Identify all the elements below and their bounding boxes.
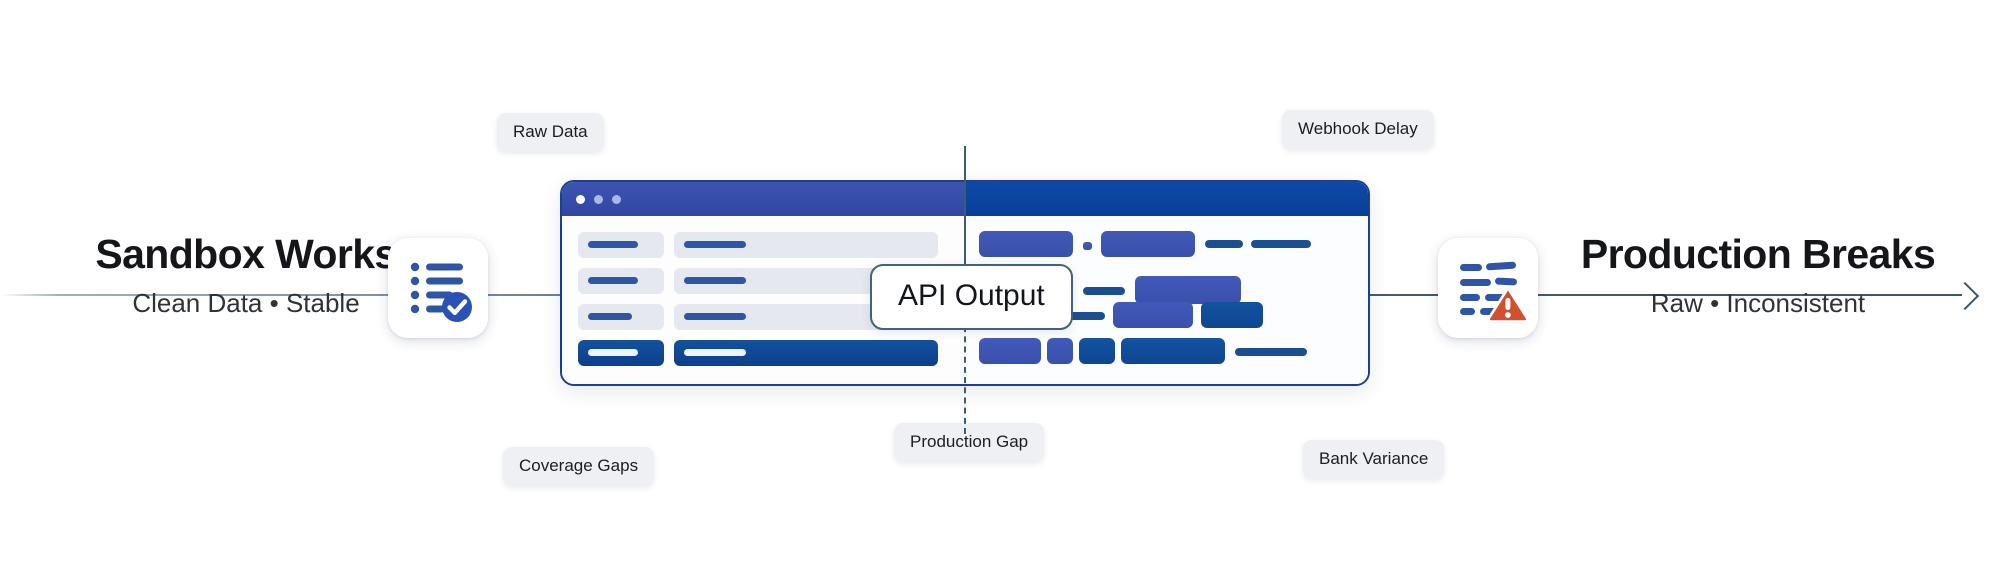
row-bar <box>684 313 746 320</box>
data-block <box>1201 302 1263 328</box>
titlebar-right-half <box>965 182 1368 216</box>
data-block <box>1083 242 1092 250</box>
data-line <box>1235 348 1307 356</box>
close-dot-icon[interactable] <box>576 195 585 204</box>
row-bar <box>588 349 638 356</box>
data-block <box>979 338 1041 364</box>
row-bar <box>588 277 638 284</box>
infographic-canvas: Sandbox Works Clean Data • Stable Produc… <box>0 0 2000 580</box>
checklist-check-icon <box>388 238 488 338</box>
row-bar <box>684 349 746 356</box>
minimize-dot-icon[interactable] <box>594 195 603 204</box>
production-gap-divider-dashed <box>964 316 966 434</box>
maximize-dot-icon[interactable] <box>612 195 621 204</box>
row-bar <box>684 241 746 248</box>
pill-coverage-gaps[interactable]: Coverage Gaps <box>503 447 654 486</box>
pill-bank-variance[interactable]: Bank Variance <box>1303 440 1444 479</box>
data-block <box>1079 338 1115 364</box>
data-block <box>1121 338 1225 364</box>
pill-production-gap[interactable]: Production Gap <box>894 423 1044 462</box>
data-line <box>1251 240 1311 248</box>
pill-raw-data[interactable]: Raw Data <box>497 113 604 152</box>
data-block <box>979 231 1073 257</box>
data-line <box>1205 240 1243 248</box>
row-bar <box>588 241 638 248</box>
row-bar <box>684 277 746 284</box>
data-block <box>1135 276 1241 304</box>
data-block <box>1101 231 1195 257</box>
pill-webhook-delay[interactable]: Webhook Delay <box>1282 110 1434 149</box>
row-bar <box>588 313 632 320</box>
right-side-group: Production Breaks Raw • Inconsistent <box>1548 232 1968 319</box>
titlebar-left-half <box>562 182 965 216</box>
right-side-title: Production Breaks <box>1548 232 1968 276</box>
document-warning-icon <box>1438 238 1538 338</box>
right-side-subtitle: Raw • Inconsistent <box>1548 288 1968 319</box>
data-block <box>1113 302 1193 328</box>
data-block <box>1047 338 1073 364</box>
data-line <box>1083 287 1125 295</box>
api-output-chip[interactable]: API Output <box>870 264 1073 330</box>
window-traffic-lights <box>576 195 621 204</box>
